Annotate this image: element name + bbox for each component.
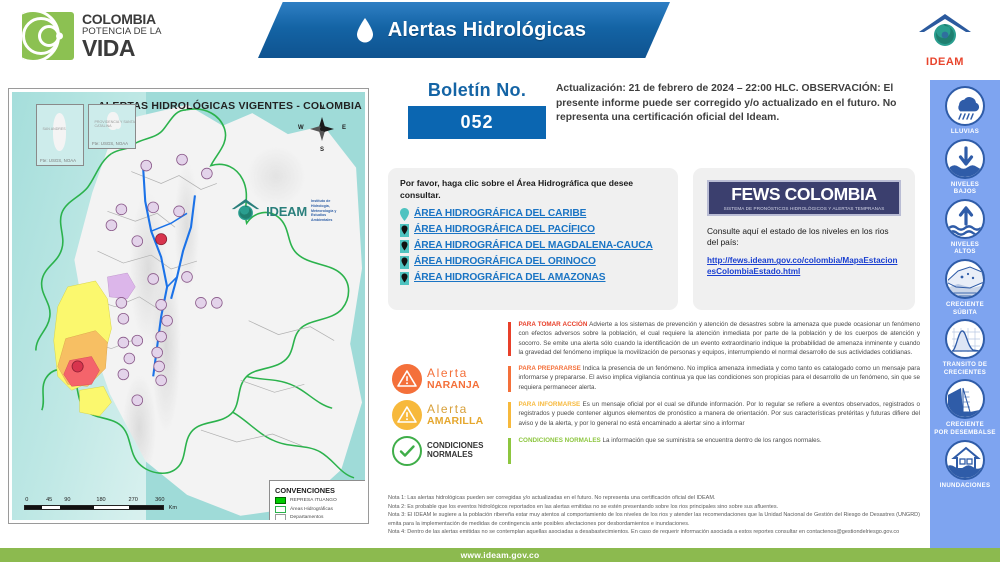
bulletin-section: Boletín No. 052 Actualización: 21 de feb… — [378, 80, 923, 160]
map-inset-a-source: Fte: USGS, NOAA — [40, 158, 76, 163]
map-inset-a-name: SAN ANDRES — [43, 127, 66, 131]
note-2: Nota 2: Es probable que los eventos hidr… — [388, 503, 920, 512]
alert-normales-icon-col: CONDICIONES NORMALES — [388, 436, 508, 466]
note-4: Nota 4: Dentro de las alertas emitidas n… — [388, 528, 920, 537]
map-ideam-watermark: IDEAM Instituto de Hidrología,Meteorolog… — [229, 192, 347, 230]
link-item-orinoco[interactable]: ÁREA HIDROGRÁFICA DEL ORINOCO — [400, 255, 666, 269]
legend-label-areas: Áreas Hidrográficas — [290, 507, 333, 512]
map-legend: CONVENCIONES REPRESA ITUANGO Áreas Hidro… — [269, 480, 365, 520]
alert-naranja-line1: Alerta — [427, 367, 480, 380]
note-3: Nota 3: El IDEAM le sugiere a la poblaci… — [388, 511, 920, 528]
colombia-logo-line1: COLOMBIA — [82, 12, 162, 26]
fews-logo-title: FEWS COLOMBIA — [715, 186, 893, 204]
map-inset-b-name: PROVIDENCIA Y SANTA CATALINA — [95, 120, 135, 128]
up-arrow-water-icon — [945, 199, 985, 239]
map-pin-icon — [400, 224, 409, 237]
sidebar-label-lluvias: LLUVIAS — [932, 128, 998, 136]
alert-naranja-text: PARA PREPARARSE Indica la presencia de u… — [519, 364, 921, 392]
water-drop-icon — [356, 17, 374, 43]
note-1: Nota 1: Las alertas hidrológicas pueden … — [388, 494, 920, 503]
bulletin-update-text: Actualización: 21 de febrero de 2024 – 2… — [556, 82, 916, 126]
scalebar-tick-1: 45 — [46, 497, 52, 503]
colombia-logo-line3: VIDA — [82, 37, 162, 60]
sidebar-item-lluvias[interactable]: LLUVIAS — [932, 86, 998, 136]
ideam-logo-text: IDEAM — [914, 56, 976, 68]
compass-west-label: W — [298, 125, 304, 131]
link-label-pacifico[interactable]: ÁREA HIDROGRÁFICA DEL PACÍFICO — [414, 223, 595, 236]
link-item-caribe[interactable]: ÁREA HIDROGRÁFICA DEL CARIBE — [400, 207, 666, 221]
legend-item: Áreas Hidrográficas — [275, 506, 363, 513]
alert-normales-line2: NORMALES — [427, 451, 483, 459]
sidebar-label-creciente-subita: CRECIENTESÚBITA — [932, 301, 998, 316]
sidebar-label-inundaciones: INUNDACIONES — [932, 482, 998, 490]
legend-item: Departamentos — [275, 514, 363, 520]
map-pin-icon — [400, 256, 409, 269]
rain-cloud-icon — [945, 86, 985, 126]
link-label-amazonas[interactable]: ÁREA HIDROGRÁFICA DEL AMAZONAS — [414, 271, 606, 284]
alert-naranja-warning-icon — [392, 364, 422, 394]
footer-bar: www.ideam.gov.co — [0, 548, 1000, 562]
link-item-pacifico[interactable]: ÁREA HIDROGRÁFICA DEL PACÍFICO — [400, 223, 666, 237]
sidebar-label-niveles-altos: NIVELESALTOS — [932, 241, 998, 256]
footer-url[interactable]: www.ideam.gov.co — [461, 550, 540, 560]
sidebar-item-creciente-desembalse[interactable]: CRECIENTEPOR DESEMBALSE — [932, 379, 998, 436]
bulletin-update-line: Actualización: 21 de febrero de 2024 – 2… — [556, 83, 799, 94]
title-banner-content: Alertas Hidrológicas — [258, 2, 670, 58]
compass-north-label: N — [320, 105, 324, 111]
colombia-potencia-de-la-vida-logo: COLOMBIA POTENCIA DE LA VIDA — [22, 10, 192, 62]
flash-flood-icon — [945, 259, 985, 299]
bulletin-title: Boletín No. — [408, 80, 546, 101]
alert-normales-label: CONDICIONES NORMALES — [427, 442, 483, 459]
phenomena-sidebar: LLUVIAS NIVELESBAJOS NIVELESALTOS — [930, 80, 1000, 548]
map-pin-icon — [400, 208, 409, 221]
fews-link[interactable]: http://fews.ideam.gov.co/colombia/MapaEs… — [707, 256, 901, 277]
alert-amarilla-line2: AMARILLA — [427, 416, 483, 427]
hydrograph-icon — [945, 319, 985, 359]
down-arrow-water-icon — [945, 139, 985, 179]
alert-naranja-heading: PARA PREPARARSE — [519, 365, 581, 372]
alert-roja-color-bar — [508, 322, 511, 356]
alert-naranja-color-bar — [508, 366, 511, 392]
legend-swatch-departamentos — [275, 514, 286, 520]
scalebar-tick-3: 180 — [96, 497, 105, 503]
ideam-eye-roof-icon — [914, 10, 976, 50]
legend-title: CONVENCIONES — [275, 486, 363, 495]
alert-roja-heading: PARA TOMAR ACCIÓN — [519, 321, 588, 328]
map-ideam-subtitle: Instituto de Hidrología,Meteorología yEs… — [311, 199, 347, 223]
link-item-magdalena-cauca[interactable]: ÁREA HIDROGRÁFICA DEL MAGDALENA-CAUCA — [400, 239, 666, 253]
sidebar-label-creciente-desembalse: CRECIENTEPOR DESEMBALSE — [932, 421, 998, 436]
map-inset-san-andres: SAN ANDRES Fte: USGS, NOAA — [36, 104, 84, 166]
map-scalebar-bar — [24, 505, 164, 510]
alert-levels-legend: PARA TOMAR ACCIÓN Advierte a los sistema… — [388, 320, 920, 472]
link-label-magdalena-cauca[interactable]: ÁREA HIDROGRÁFICA DEL MAGDALENA-CAUCA — [414, 239, 653, 252]
dam-release-icon — [945, 379, 985, 419]
map-panel[interactable]: ALERTAS HIDROLÓGICAS VIGENTES - COLOMBIA… — [8, 88, 369, 524]
map-inset-b-source: Fte: USGS, NOAA — [92, 141, 128, 146]
legend-swatch-represa — [275, 497, 286, 504]
alert-roja-text: PARA TOMAR ACCIÓN Advierte a los sistema… — [519, 320, 921, 358]
map-scalebar-unit: Km — [169, 505, 177, 511]
bulletin-number-block: Boletín No. 052 — [408, 80, 546, 139]
alert-amarilla-text: PARA INFORMARSE Es un mensaje oficial po… — [519, 400, 921, 428]
ideam-eye-roof-icon — [229, 195, 262, 227]
sidebar-item-transito-crecientes[interactable]: TRANSITO DECRECIENTES — [932, 319, 998, 376]
legend-item: REPRESA ITUANGO — [275, 497, 363, 504]
fews-logo: FEWS COLOMBIA SISTEMA DE PRONÓSTICOS HID… — [707, 180, 901, 216]
alert-normales-text: CONDICIONES NORMALES La información que … — [519, 436, 921, 445]
bulletin-number: 052 — [408, 106, 546, 139]
colombia-logo-mark-icon — [22, 12, 74, 60]
alert-normales-body: La información que se suministra se encu… — [602, 437, 821, 444]
sidebar-item-niveles-bajos[interactable]: NIVELESBAJOS — [932, 139, 998, 196]
scalebar-tick-2: 90 — [64, 497, 70, 503]
notes-section: Nota 1: Las alertas hidrológicas pueden … — [388, 494, 920, 537]
compass-rose-icon: N S W E — [299, 106, 345, 152]
alert-amarilla-warning-icon — [392, 400, 422, 430]
scalebar-tick-0: 0 — [25, 497, 28, 503]
map-canvas[interactable]: ALERTAS HIDROLÓGICAS VIGENTES - COLOMBIA… — [12, 92, 365, 520]
alert-amarilla-color-bar — [508, 402, 511, 428]
page-header: COLOMBIA POTENCIA DE LA VIDA Alertas Hid… — [0, 0, 1000, 72]
page-title: Alertas Hidrológicas — [388, 19, 587, 42]
alert-naranja-line2: NARANJA — [427, 380, 480, 391]
compass-east-label: E — [342, 125, 346, 131]
fews-colombia-card: FEWS COLOMBIA SISTEMA DE PRONÓSTICOS HID… — [693, 168, 915, 310]
flooded-house-icon — [945, 440, 985, 480]
alert-amarilla-line1: Alerta — [427, 403, 483, 416]
alert-amarilla-heading: PARA INFORMARSE — [519, 401, 581, 408]
check-circle-icon — [392, 436, 422, 466]
alert-row-naranja: Alerta NARANJA PARA PREPARARSE Indica la… — [388, 364, 920, 394]
link-label-caribe[interactable]: ÁREA HIDROGRÁFICA DEL CARIBE — [414, 207, 586, 220]
map-inset-providencia: PROVIDENCIA Y SANTA CATALINA Fte: USGS, … — [88, 104, 136, 149]
alert-amarilla-label: Alerta AMARILLA — [427, 403, 483, 427]
map-pin-icon — [400, 272, 409, 285]
alert-normales-color-bar — [508, 438, 511, 464]
fews-logo-subtitle: SISTEMA DE PRONÓSTICOS HIDROLÓGICOS Y AL… — [715, 206, 893, 211]
map-ideam-word: IDEAM — [266, 204, 307, 219]
map-scalebar: 0 45 90 180 270 360 Km — [24, 497, 164, 510]
link-label-orinoco[interactable]: ÁREA HIDROGRÁFICA DEL ORINOCO — [414, 255, 596, 268]
sidebar-item-inundaciones[interactable]: INUNDACIONES — [932, 440, 998, 490]
sidebar-label-niveles-bajos: NIVELESBAJOS — [932, 181, 998, 196]
legend-label-represa: REPRESA ITUANGO — [290, 498, 337, 503]
ideam-logo: IDEAM — [914, 10, 976, 64]
alert-row-normales: CONDICIONES NORMALES CONDICIONES NORMALE… — [388, 436, 920, 466]
alert-naranja-label: Alerta NARANJA — [427, 367, 480, 391]
link-item-amazonas[interactable]: ÁREA HIDROGRÁFICA DEL AMAZONAS — [400, 271, 666, 285]
scalebar-tick-4: 270 — [129, 497, 138, 503]
sidebar-item-niveles-altos[interactable]: NIVELESALTOS — [932, 199, 998, 256]
alert-row-amarilla: Alerta AMARILLA PARA INFORMARSE Es un me… — [388, 400, 920, 430]
alert-normales-heading: CONDICIONES NORMALES — [519, 437, 601, 444]
sidebar-item-creciente-subita[interactable]: CRECIENTESÚBITA — [932, 259, 998, 316]
links-hint-text: Por favor, haga clic sobre el Área Hidro… — [400, 178, 666, 201]
compass-south-label: S — [320, 147, 324, 153]
fews-description: Consulte aquí el estado de los niveles e… — [707, 226, 901, 249]
main-content: Boletín No. 052 Actualización: 21 de feb… — [378, 80, 923, 550]
legend-swatch-areas — [275, 506, 286, 513]
alert-row-roja: PARA TOMAR ACCIÓN Advierte a los sistema… — [388, 320, 920, 358]
sidebar-label-transito-crecientes: TRANSITO DECRECIENTES — [932, 361, 998, 376]
legend-label-departamentos: Departamentos — [290, 515, 323, 520]
alert-naranja-icon-col: Alerta NARANJA — [388, 364, 508, 394]
hydrographic-links-card: Por favor, haga clic sobre el Área Hidro… — [388, 168, 678, 310]
map-pin-icon — [400, 240, 409, 253]
map-scalebar-ticks: 0 45 90 180 270 360 — [24, 497, 164, 505]
scalebar-tick-5: 360 — [155, 497, 164, 503]
alert-amarilla-icon-col: Alerta AMARILLA — [388, 400, 508, 430]
